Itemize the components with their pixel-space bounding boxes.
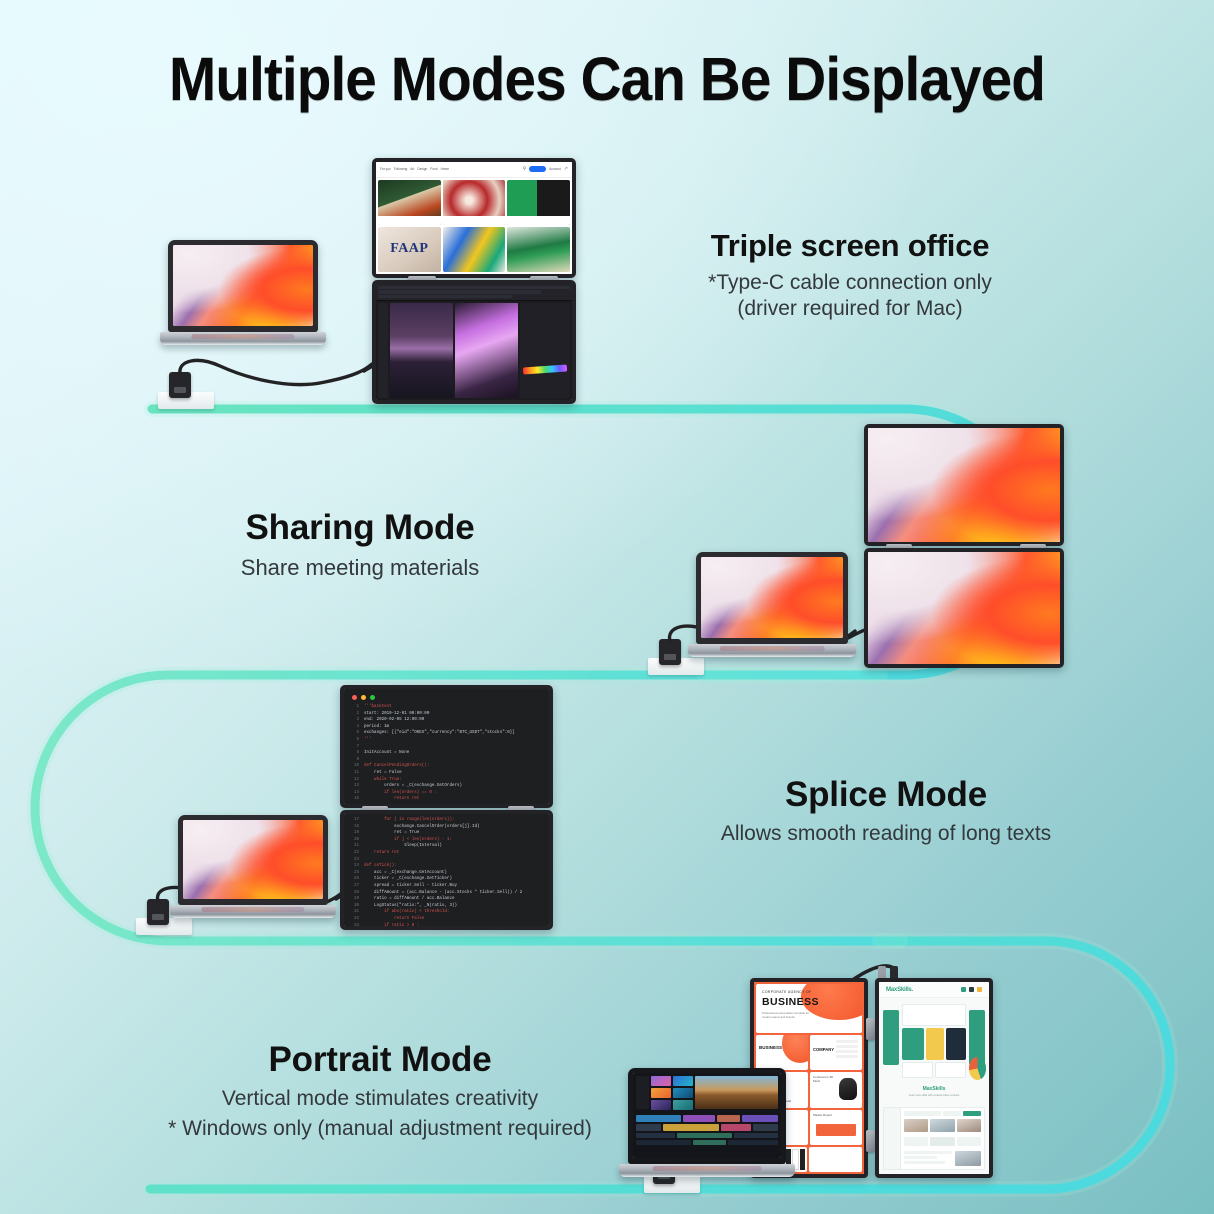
code-line: 31 if abs(ratio) < threshold: [344, 909, 549, 916]
code-lines-top: 1'''backtest2start: 2019-12-01 00:00:003… [344, 704, 549, 803]
code-line: 27 spread = ticker.Sell - ticker.Buy [344, 883, 549, 890]
code-line-text: if abs(ratio) < threshold: [364, 909, 449, 916]
code-line-number: 33 [351, 923, 359, 927]
code-line-number: 7 [351, 744, 359, 751]
wallpaper [868, 552, 1060, 664]
code-line-number: 12 [351, 777, 359, 784]
code-line-number: 14 [351, 790, 359, 797]
laptop-screen [633, 1073, 781, 1158]
code-line-number: 5 [351, 730, 359, 737]
code-line-text: exchanges: [{"eid":"OKEX","currency":"BT… [364, 730, 515, 737]
code-line: 19 ret = True [344, 830, 549, 837]
code-line-text: while True: [364, 777, 402, 784]
code-line-text: ret = True [364, 830, 419, 837]
code-line-text: ''' [364, 737, 372, 744]
grid-icon[interactable] [961, 987, 966, 992]
code-line-text: def CancelPendingOrders(): [364, 763, 429, 770]
section-subtitle-1: Vertical mode stimulates creativity [155, 1087, 605, 1111]
code-line-number: 17 [351, 817, 359, 824]
search-icon[interactable]: ⚲ [523, 166, 527, 172]
code-editor[interactable]: 17 for j in range(len(orders)):18 exchan… [344, 814, 549, 926]
code-line-number: 2 [351, 711, 359, 718]
code-line-text: def onTick(): [364, 863, 397, 870]
text-block-portrait-mode: Portrait Mode Vertical mode stimulates c… [155, 1040, 605, 1141]
code-line: 30 LogStatus("ratio:", _N(ratio, 3)) [344, 903, 549, 910]
laptop-base [688, 644, 857, 657]
portable-monitor-bottom [864, 548, 1064, 668]
scene-splice-mode: 1'''backtest2start: 2019-12-01 00:00:003… [130, 685, 570, 940]
website-header: MaxSkills. [879, 982, 989, 998]
code-line-text: if ratio > 0 : [364, 923, 419, 927]
nav-item-0[interactable]: For you [380, 167, 391, 171]
code-line: 17 for j in range(len(orders)): [344, 817, 549, 824]
editor-properties-panel[interactable] [520, 303, 570, 398]
section-subtitle-2: * Windows only (manual adjustment requir… [155, 1117, 605, 1141]
laptop-left [628, 1068, 786, 1164]
slide-headline: BUSINESS [762, 996, 856, 1008]
laptop-left [696, 552, 848, 644]
wallpaper [701, 557, 843, 638]
monitor-screen [868, 428, 1060, 542]
portable-monitor-bottom [372, 280, 576, 404]
gallery-card[interactable] [378, 180, 441, 225]
section-title: Splice Mode [690, 775, 1082, 815]
gallery-card[interactable] [443, 227, 506, 272]
code-line-number: 22 [351, 850, 359, 857]
app-tool-rail[interactable] [636, 1076, 649, 1109]
featured-text: FAAP [390, 241, 428, 257]
code-line-number: 28 [351, 890, 359, 897]
code-line: 2start: 2019-12-01 00:00:00 [344, 711, 549, 718]
window-controls[interactable] [344, 689, 549, 704]
code-line: 1'''backtest [344, 704, 549, 711]
laptop-screen [183, 820, 323, 899]
gallery-card-featured[interactable]: FAAP [378, 227, 441, 272]
code-line: 29 ratio = diffAmount / acc.Balance [344, 896, 549, 903]
code-line-number: 13 [351, 783, 359, 790]
code-line: 11 ret = False [344, 770, 549, 777]
gallery-navbar: For you Following Art Design Food Home ⚲… [376, 162, 572, 178]
code-line: 8InitAccount = None [344, 750, 549, 757]
code-line-text: if len(orders) == 0 : [364, 790, 437, 797]
code-line: 9 [344, 757, 549, 764]
laptop-left [178, 815, 328, 905]
color-gradient-bar [523, 365, 567, 375]
code-line: 22 return ret [344, 850, 549, 857]
code-line: 23 [344, 857, 549, 864]
page-title: Multiple Modes Can Be Displayed [42, 44, 1171, 114]
code-line-number: 18 [351, 824, 359, 831]
code-line-number: 9 [351, 757, 359, 764]
code-line-text: diffAmount = (acc.Balance - (acc.Stocks … [364, 890, 522, 897]
gallery-card[interactable] [443, 180, 506, 225]
website-screen: MaxSkills. [879, 982, 989, 1174]
code-line-text: acc = _C(exchange.GetAccount) [364, 870, 447, 877]
video-editor-screen [376, 284, 572, 400]
layout-icon[interactable] [969, 987, 974, 992]
website-section-title: MaxSkills [879, 1086, 989, 1092]
code-editor-screen-top: 1'''backtest2start: 2019-12-01 00:00:003… [344, 689, 549, 804]
website-body: MaxSkills Learn new skills with curated … [879, 998, 989, 1174]
code-line-text: orders = _C(exchange.GetOrders) [364, 783, 462, 790]
scene-sharing-mode [640, 418, 1080, 680]
slide-thumb[interactable]: Conference 3D Mock [810, 1072, 862, 1107]
code-line-text: for j in range(len(orders)): [364, 817, 454, 824]
nav-item-1[interactable]: Following [394, 167, 407, 171]
nav-item-4[interactable]: Food [430, 167, 437, 171]
code-line-text: end: 2020-02-05 12:00:00 [364, 717, 424, 724]
nav-item-2[interactable]: Art [410, 167, 414, 171]
section-title: Triple screen office [660, 228, 1040, 264]
code-line: 24def onTick(): [344, 863, 549, 870]
code-line-text: period: 1m [364, 724, 389, 731]
section-subtitle-2: (driver required for Mac) [660, 297, 1040, 321]
section-title: Sharing Mode [180, 508, 540, 548]
portrait-monitor-right: MaxSkills. [875, 978, 993, 1178]
code-line: 10def CancelPendingOrders(): [344, 763, 549, 770]
code-line-text: return False [364, 916, 424, 923]
code-line-number: 19 [351, 830, 359, 837]
laptop-base [170, 905, 337, 918]
code-line: 14 if len(orders) == 0 : [344, 790, 549, 797]
nav-item-5[interactable]: Home [441, 167, 450, 171]
editor-preview-right[interactable] [455, 303, 518, 398]
code-line: 21 Sleep(Interval) [344, 843, 549, 850]
wallpaper [173, 245, 313, 326]
editor-preview-left[interactable] [390, 303, 453, 398]
website-logo: MaxSkills. [886, 987, 913, 993]
code-line-number: 6 [351, 737, 359, 744]
slide-thumb-title: Market Report [813, 1113, 859, 1117]
code-line-text: LogStatus("ratio:", _N(ratio, 3)) [364, 903, 457, 910]
code-line: 12 while True: [344, 777, 549, 784]
code-line-number: 30 [351, 903, 359, 910]
gallery-card[interactable] [507, 180, 570, 225]
code-line-number: 21 [351, 843, 359, 850]
minimize-dot-icon [361, 695, 366, 700]
media-bin[interactable] [651, 1076, 694, 1109]
scene-portrait-mode: CORPORATE AGENCY OF BUSINESS Professiona… [640, 940, 1102, 1198]
slide-hero[interactable]: CORPORATE AGENCY OF BUSINESS Professiona… [756, 984, 862, 1033]
timeline-panel[interactable] [633, 1112, 781, 1158]
portable-monitor-bottom: 17 for j in range(len(orders)):18 exchan… [340, 810, 553, 930]
code-line: 6''' [344, 737, 549, 744]
editor-toolbar [376, 284, 572, 301]
code-line-text: '''backtest [364, 704, 392, 711]
code-editor-screen-bottom: 17 for j in range(len(orders)):18 exchan… [344, 814, 549, 926]
code-line-number: 26 [351, 876, 359, 883]
code-line: 32 return False [344, 916, 549, 923]
code-line-number: 11 [351, 770, 359, 777]
code-line-number: 23 [351, 857, 359, 864]
code-line: 20 if j < len(orders) - 1: [344, 837, 549, 844]
code-line-text: return ret [364, 796, 419, 803]
code-line: 4period: 1m [344, 724, 549, 731]
gallery-grid: FAAP [376, 178, 572, 274]
account-label[interactable]: Account [549, 167, 561, 171]
code-line-number: 31 [351, 909, 359, 916]
code-line: 3end: 2020-02-05 12:00:00 [344, 717, 549, 724]
laptop-screen [173, 245, 313, 326]
code-line-text: exchange.CancelOrder(orders[j].Id) [364, 824, 480, 831]
code-line: 13 orders = _C(exchange.GetOrders) [344, 783, 549, 790]
section-subtitle-1: *Type-C cable connection only [660, 271, 1040, 295]
code-line: 33 if ratio > 0 : [344, 923, 549, 927]
code-lines-bottom: 17 for j in range(len(orders)):18 exchan… [344, 817, 549, 926]
code-line-text: start: 2019-12-01 00:00:00 [364, 711, 429, 718]
text-block-triple-screen-office: Triple screen office *Type-C cable conne… [660, 228, 1040, 321]
scene-triple-screen-office: For you Following Art Design Food Home ⚲… [150, 150, 590, 425]
code-line-number: 25 [351, 870, 359, 877]
code-line: 15 return ret [344, 796, 549, 803]
code-line: 5exchanges: [{"eid":"OKEX","currency":"B… [344, 730, 549, 737]
monitor-hinge [866, 1130, 875, 1152]
code-line-number: 29 [351, 896, 359, 903]
code-editor[interactable]: 1'''backtest2start: 2019-12-01 00:00:003… [344, 689, 549, 804]
laptop-left [168, 240, 318, 332]
code-line-text: ret = False [364, 770, 402, 777]
website-tagline: Learn new skills with curated online cou… [879, 1094, 989, 1098]
share-icon[interactable]: ↗ [564, 166, 568, 172]
code-line-text: if j < len(orders) - 1: [364, 837, 452, 844]
portable-monitor-top [864, 424, 1064, 546]
code-line-text: ratio = diffAmount / acc.Balance [364, 896, 454, 903]
gallery-card[interactable] [507, 227, 570, 272]
nav-item-3[interactable]: Design [417, 167, 427, 171]
gallery-screen: For you Following Art Design Food Home ⚲… [376, 162, 572, 274]
laptop-base [619, 1164, 794, 1177]
text-block-sharing-mode: Sharing Mode Share meeting materials [180, 508, 540, 581]
code-line-text: Sleep(Interval) [364, 843, 442, 850]
code-line-text: ticker = _C(exchange.GetTicker) [364, 876, 452, 883]
code-line-number: 8 [351, 750, 359, 757]
slide-thumb[interactable]: Market Report [810, 1110, 862, 1145]
section-title: Portrait Mode [155, 1040, 605, 1080]
code-line-number: 24 [351, 863, 359, 870]
wallpaper [868, 428, 1060, 542]
code-line: 26 ticker = _C(exchange.GetTicker) [344, 876, 549, 883]
code-line-number: 3 [351, 717, 359, 724]
laptop-screen [701, 557, 843, 638]
slide-thumb[interactable]: COMPANY [810, 1035, 862, 1070]
code-line-number: 10 [351, 763, 359, 770]
code-line-number: 4 [351, 724, 359, 731]
website-preview[interactable]: MaxSkills. [879, 982, 989, 1174]
section-subtitle-1: Share meeting materials [180, 555, 540, 581]
text-block-splice-mode: Splice Mode Allows smooth reading of lon… [690, 775, 1082, 846]
code-line: 18 exchange.CancelOrder(orders[j].Id) [344, 824, 549, 831]
slide-thumb[interactable]: BUSINESS [756, 1035, 808, 1070]
code-line: 28 diffAmount = (acc.Balance - (acc.Stoc… [344, 890, 549, 897]
video-timeline-app[interactable] [633, 1073, 781, 1158]
portable-monitor-top: For you Following Art Design Food Home ⚲… [372, 158, 576, 278]
code-line-number: 27 [351, 883, 359, 890]
laptop-base [160, 332, 327, 345]
portable-monitor-top: 1'''backtest2start: 2019-12-01 00:00:003… [340, 685, 553, 808]
code-line: 25 acc = _C(exchange.GetAccount) [344, 870, 549, 877]
monitor-screen [868, 552, 1060, 664]
code-line-number: 20 [351, 837, 359, 844]
wallpaper [183, 820, 323, 899]
slide-thumb[interactable] [809, 1147, 862, 1172]
section-subtitle-1: Allows smooth reading of long texts [690, 822, 1082, 846]
preview-monitor[interactable] [695, 1076, 778, 1109]
monitor-hinge [866, 1018, 875, 1040]
slide-kicker: CORPORATE AGENCY OF [762, 990, 856, 994]
code-line-number: 15 [351, 796, 359, 803]
palette-icon[interactable] [977, 987, 982, 992]
slide-thumb-title: Conference 3D Mock [813, 1075, 839, 1083]
code-line-number: 1 [351, 704, 359, 711]
close-dot-icon [352, 695, 357, 700]
slide-thumb-title: BUSINESS [759, 1045, 805, 1050]
save-button[interactable] [529, 166, 546, 172]
slide-body: Professional presentation template for m… [762, 1011, 815, 1019]
infographic-canvas: Multiple Modes Can Be Displayed For you … [0, 0, 1214, 1214]
code-line-text: return ret [364, 850, 399, 857]
code-line-text: spread = ticker.Sell - ticker.Buy [364, 883, 457, 890]
code-line: 7 [344, 744, 549, 751]
maximize-dot-icon [370, 695, 375, 700]
code-line-text: InitAccount = None [364, 750, 409, 757]
editor-tool-rail[interactable] [378, 303, 388, 398]
code-line-number: 32 [351, 916, 359, 923]
